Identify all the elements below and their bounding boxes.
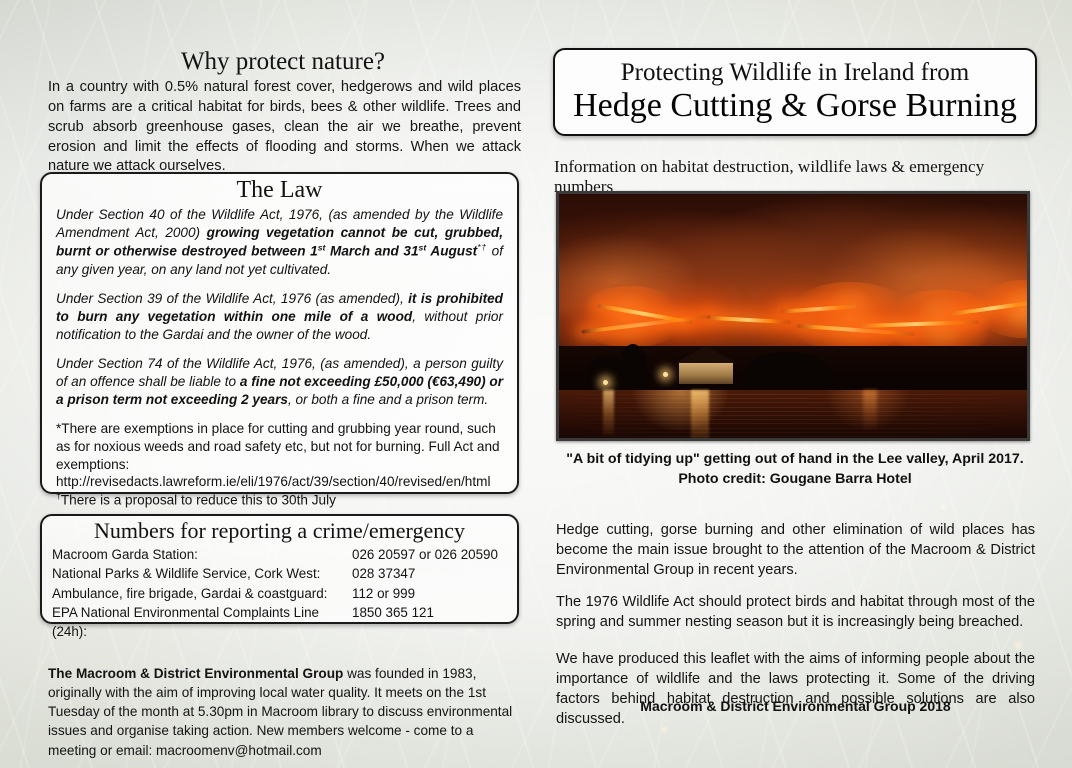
leaflet-page: Why protect nature? In a country with 0.… (0, 0, 1072, 768)
photo-water-ripple (559, 419, 1027, 420)
photo-water-ripple (559, 415, 1027, 416)
the-law-heading: The Law (42, 177, 517, 204)
main-title-line-2: Hedge Cutting & Gorse Burning (573, 87, 1017, 124)
law-s39-intro: Under Section 39 of the Wildlife Act, 19… (56, 291, 408, 306)
right-footer-credit: Macroom & District Environmental Group 2… (556, 698, 1035, 714)
law-paragraph-section-39: Under Section 39 of the Wildlife Act, 19… (56, 290, 503, 344)
photo-water-ripple (559, 402, 1027, 403)
contact-row: National Parks & Wildlife Service, Cork … (42, 564, 517, 583)
gorse-fire-photo (559, 194, 1027, 438)
group-name-bold: The Macroom & District Environmental Gro… (48, 666, 343, 681)
photo-caption-line-1: "A bit of tidying up" getting out of han… (566, 451, 1024, 467)
photo-lamp-light (603, 380, 608, 385)
contact-label: National Parks & Wildlife Service, Cork … (52, 564, 352, 583)
main-title-panel: Protecting Wildlife in Ireland from Hedg… (553, 48, 1037, 136)
contact-number: 112 or 999 (352, 584, 507, 603)
photo-caption-line-2: Photo credit: Gougane Barra Hotel (678, 471, 911, 487)
photo-chapel-building (679, 362, 733, 384)
law-note-star-text: *There are exemptions in place for cutti… (56, 421, 500, 471)
contact-label: Macroom Garda Station: (52, 545, 352, 564)
main-title-line-1: Protecting Wildlife in Ireland from (621, 60, 969, 86)
contact-number: 026 20597 or 026 20590 (352, 545, 507, 564)
law-s74-tail: , or both a fine and a prison term. (288, 392, 488, 407)
photo-water-ripple (559, 436, 1027, 437)
law-s40-footnote-marks: *† (477, 242, 487, 252)
photo-water-ripple (559, 398, 1027, 399)
contact-row: EPA National Environmental Complaints Li… (42, 603, 517, 642)
photo-lamp-light (663, 372, 668, 377)
photo-water-reflection (603, 390, 614, 436)
right-paragraph-3: We have produced this leaflet with the a… (556, 649, 1035, 730)
law-s40-bold-3: August (426, 244, 477, 259)
right-column: Protecting Wildlife in Ireland from Hedg… (545, 0, 1072, 768)
photo-water-ripple (559, 423, 1027, 424)
law-s40-bold-2: March and 31 (325, 244, 418, 259)
law-exemptions-note: *There are exemptions in place for cutti… (56, 420, 503, 509)
contact-number: 028 37347 (352, 564, 507, 583)
contact-label: Ambulance, fire brigade, Gardai & coastg… (52, 584, 352, 603)
contact-label: EPA National Environmental Complaints Li… (52, 603, 352, 642)
why-protect-nature-heading: Why protect nature? (48, 48, 518, 76)
gorse-fire-photo-frame (556, 191, 1030, 441)
photo-water-ripple (559, 440, 1027, 441)
right-paragraph-2: The 1976 Wildlife Act should protect bir… (556, 592, 1035, 632)
emergency-numbers-heading: Numbers for reporting a crime/emergency (42, 518, 517, 544)
contact-number: 1850 365 121 (352, 603, 507, 642)
photo-caption: "A bit of tidying up" getting out of han… (555, 450, 1035, 490)
photo-water-ripple (559, 428, 1027, 429)
left-column: Why protect nature? In a country with 0.… (0, 0, 545, 768)
law-revised-acts-link[interactable]: http://revisedacts.lawreform.ie/eli/1976… (56, 474, 490, 489)
photo-water-reflection (863, 390, 877, 430)
law-note-dagger-text: There is a proposal to reduce this to 30… (61, 493, 336, 508)
why-protect-nature-body: In a country with 0.5% natural forest co… (48, 78, 521, 177)
photo-lake-water (559, 390, 1027, 438)
photo-water-ripple (559, 432, 1027, 433)
right-paragraph-1: Hedge cutting, gorse burning and other e… (556, 520, 1035, 580)
photo-water-ripple (559, 394, 1027, 395)
photo-chapel-roof (675, 346, 737, 363)
law-paragraph-section-40: Under Section 40 of the Wildlife Act, 19… (56, 206, 503, 279)
the-law-panel: The Law Under Section 40 of the Wildlife… (40, 172, 519, 494)
emergency-numbers-panel: Numbers for reporting a crime/emergency … (40, 514, 519, 624)
photo-water-ripple (559, 411, 1027, 412)
about-group-paragraph: The Macroom & District Environmental Gro… (48, 664, 525, 760)
photo-water-reflection (691, 390, 709, 441)
law-paragraph-section-74: Under Section 74 of the Wildlife Act, 19… (56, 355, 503, 409)
contact-row: Macroom Garda Station: 026 20597 or 026 … (42, 545, 517, 564)
photo-water-ripple (559, 407, 1027, 408)
contact-row: Ambulance, fire brigade, Gardai & coastg… (42, 584, 517, 603)
